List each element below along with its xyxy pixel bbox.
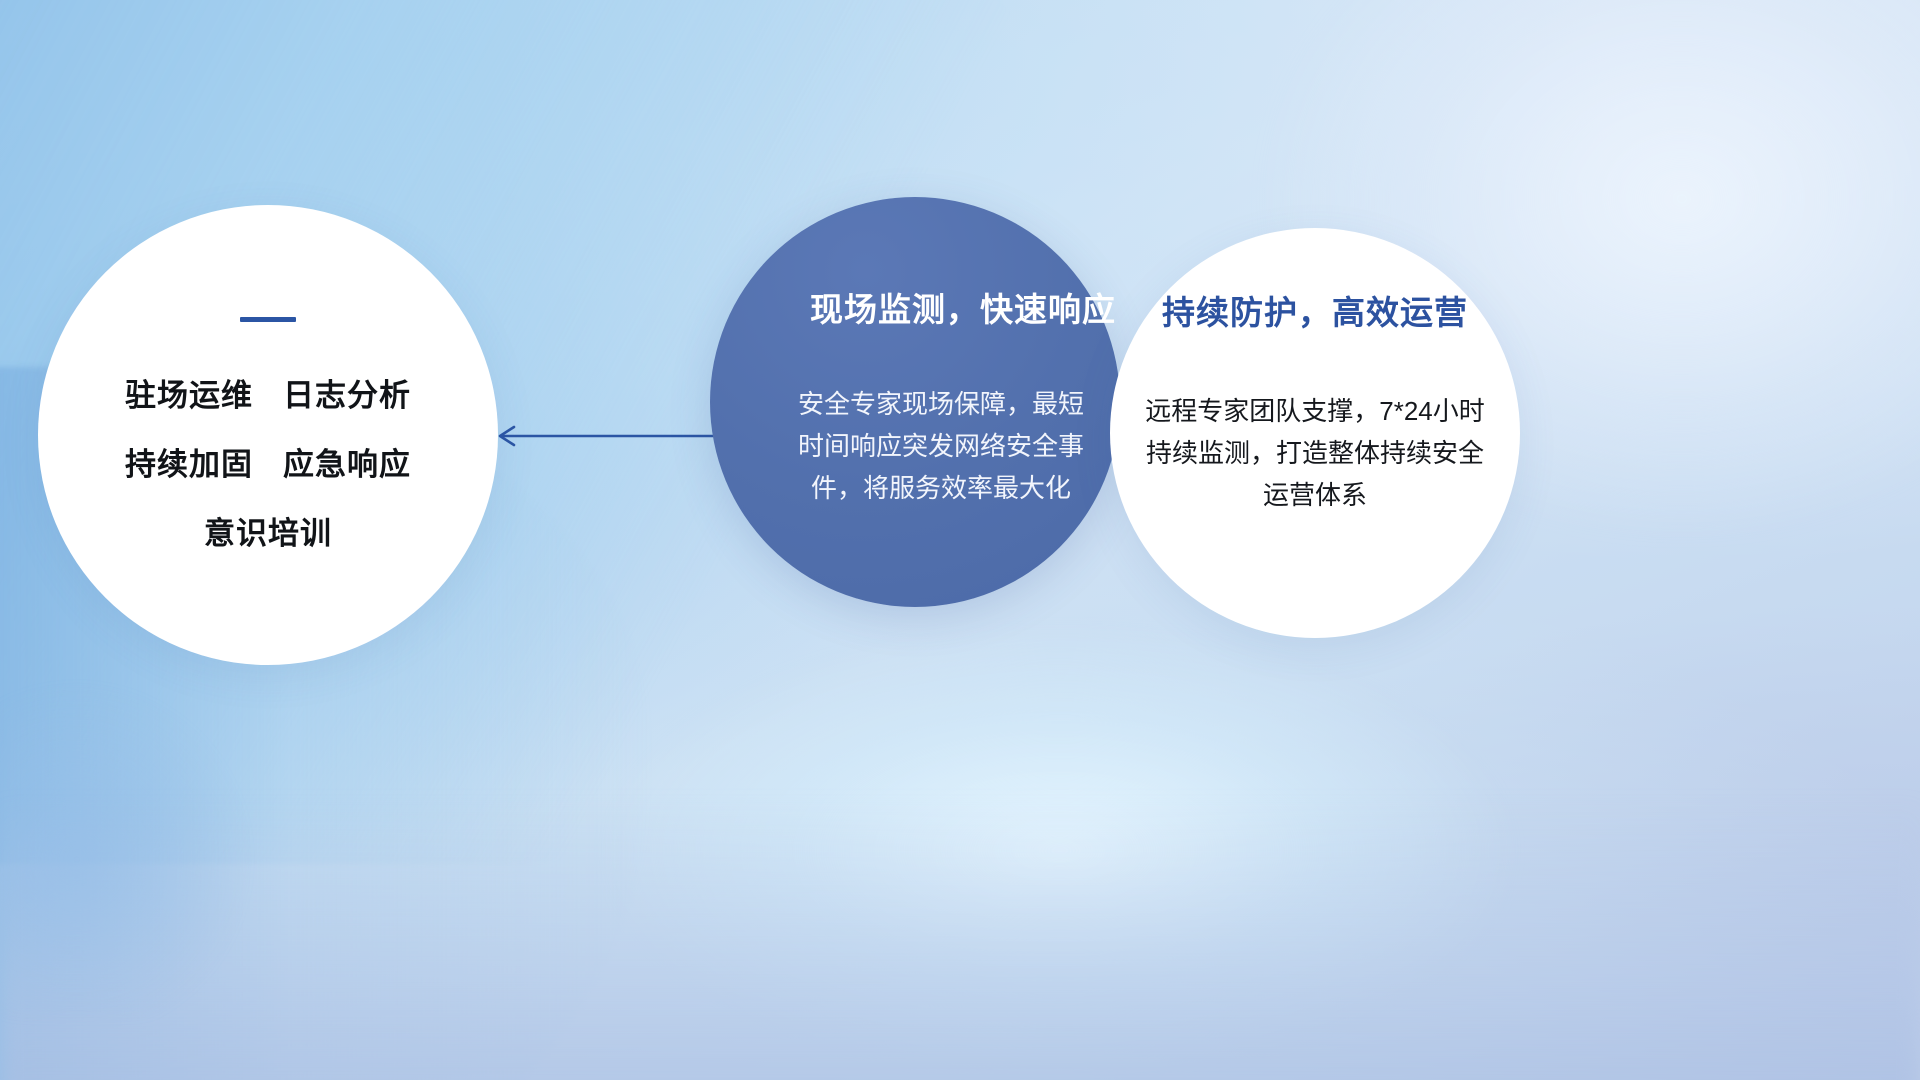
keyword-item: 日志分析 xyxy=(283,370,411,415)
keyword-row: 意识培训 xyxy=(73,508,463,553)
middle-circle-heading: 现场监测，快速响应 xyxy=(810,283,1116,331)
keyword-row: 持续加固 应急响应 xyxy=(73,439,463,484)
keyword-item: 持续加固 xyxy=(125,439,253,484)
right-info-circle[interactable]: 持续防护，高效运营 远程专家团队支撑，7*24小时持续监测，打造整体持续安全运营… xyxy=(1110,228,1520,638)
right-circle-body: 远程专家团队支撑，7*24小时持续监测，打造整体持续安全运营体系 xyxy=(1139,390,1491,516)
middle-circle-body: 安全专家现场保障，最短时间响应突发网络安全事件，将服务效率最大化 xyxy=(796,383,1086,509)
arrow-left-icon xyxy=(488,424,720,448)
keyword-item: 驻场运维 xyxy=(125,370,253,415)
middle-circle-content: 现场监测，快速响应 安全专家现场保障，最短时间响应突发网络安全事件，将服务效率最… xyxy=(710,197,1120,607)
left-circle-content: 驻场运维 日志分析 持续加固 应急响应 意识培训 xyxy=(73,317,463,553)
keyword-item: 应急响应 xyxy=(283,439,411,484)
dash-accent-icon xyxy=(240,317,296,322)
left-keyword-circle[interactable]: 驻场运维 日志分析 持续加固 应急响应 意识培训 xyxy=(38,205,498,665)
right-circle-heading: 持续防护，高效运营 xyxy=(1162,286,1468,334)
diagram-stage: 驻场运维 日志分析 持续加固 应急响应 意识培训 现场监测，快速响应 安全专家现… xyxy=(0,0,1920,1080)
keyword-row: 驻场运维 日志分析 xyxy=(73,370,463,415)
middle-highlight-circle[interactable]: 现场监测，快速响应 安全专家现场保障，最短时间响应突发网络安全事件，将服务效率最… xyxy=(710,197,1120,607)
keyword-item: 意识培训 xyxy=(204,508,332,553)
